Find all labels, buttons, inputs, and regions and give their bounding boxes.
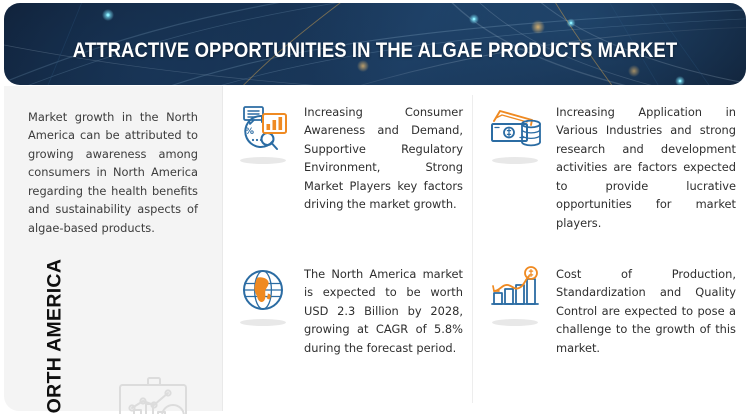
icon-shadow xyxy=(492,157,538,164)
vertical-divider-middle xyxy=(472,95,473,403)
globe-icon xyxy=(232,264,294,326)
insight-card-text: The North America market is expected to … xyxy=(304,264,463,357)
vertical-divider-left xyxy=(222,86,223,411)
icon-shadow xyxy=(240,157,286,164)
money-coins-icon xyxy=(484,102,546,164)
header-banner: ATTRACTIVE OPPORTUNITIES IN THE ALGAE PR… xyxy=(4,3,746,85)
insight-card-market-challenge: Cost of Production, Standardization and … xyxy=(484,264,742,357)
insight-card-industry-application: Increasing Application in Various Indust… xyxy=(484,102,742,232)
market-research-chart-icon: % xyxy=(232,102,294,164)
region-label: NORTH AMERICA xyxy=(44,282,65,414)
growth-bar-chart-dollar-icon xyxy=(484,264,546,326)
region-description: Market growth in the North America can b… xyxy=(28,108,198,237)
insight-card-text: Cost of Production, Standardization and … xyxy=(556,264,736,357)
svg-text:%: % xyxy=(245,127,254,137)
page-title: ATTRACTIVE OPPORTUNITIES IN THE ALGAE PR… xyxy=(56,40,694,62)
region-panel: Market growth in the North America can b… xyxy=(4,86,222,411)
icon-shadow xyxy=(240,319,286,326)
insight-card-text: Increasing Application in Various Indust… xyxy=(556,102,736,232)
infographic-root: ATTRACTIVE OPPORTUNITIES IN THE ALGAE PR… xyxy=(0,0,752,414)
icon-shadow xyxy=(492,319,538,326)
insight-card-market-value: The North America market is expected to … xyxy=(232,264,464,357)
insight-card-text: Increasing Consumer Awareness and Demand… xyxy=(304,102,463,214)
insight-card-consumer-awareness: % Increasing Consumer Awareness and Dema… xyxy=(232,102,464,214)
presentation-chart-magnifier-icon xyxy=(112,374,198,414)
